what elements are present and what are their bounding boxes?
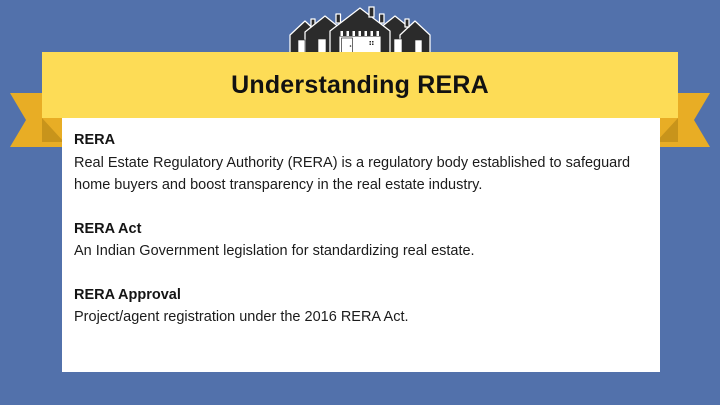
content-section: RERA Approval Project/agent registration… (74, 285, 640, 329)
houses-row-icon (288, 4, 432, 54)
section-body: An Indian Government legislation for sta… (74, 240, 639, 262)
section-heading: RERA Act (74, 219, 640, 240)
ribbon-fold-left (42, 118, 64, 142)
section-heading: RERA Approval (74, 285, 640, 306)
section-heading: RERA (74, 130, 640, 151)
section-body: Project/agent registration under the 201… (74, 306, 639, 328)
content-card: RERA Real Estate Regulatory Authority (R… (62, 118, 660, 372)
section-body: Real Estate Regulatory Authority (RERA) … (74, 152, 639, 197)
page-title: Understanding RERA (231, 71, 489, 100)
content-section: RERA Real Estate Regulatory Authority (R… (74, 130, 640, 197)
title-banner: Understanding RERA (42, 52, 678, 118)
slide-canvas: Understanding RERA RERA Real Estate Regu… (0, 0, 720, 405)
content-section: RERA Act An Indian Government legislatio… (74, 219, 640, 263)
